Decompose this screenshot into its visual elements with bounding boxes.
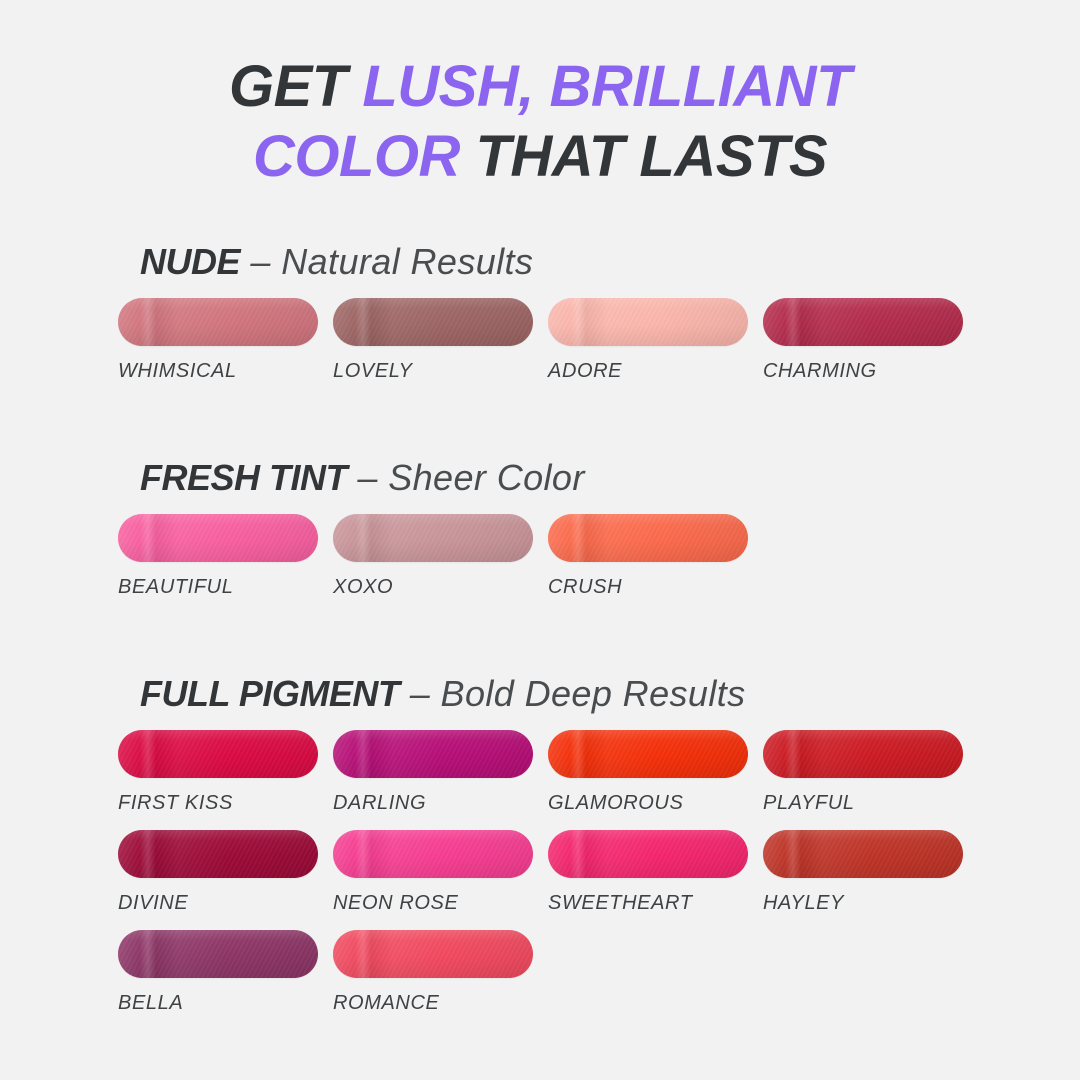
swatch-label: CRUSH bbox=[548, 575, 748, 599]
swatch-item[interactable]: ADORE bbox=[548, 298, 748, 398]
section-header-full-pigment: FULL PIGMENT – Bold Deep Results bbox=[0, 672, 1080, 716]
swatch-chip[interactable] bbox=[118, 930, 318, 978]
swatch-label: NEON ROSE bbox=[333, 891, 533, 915]
swatch-label: DARLING bbox=[333, 791, 533, 815]
section-subtitle: – Bold Deep Results bbox=[399, 673, 745, 714]
swatch-chip[interactable] bbox=[763, 730, 963, 778]
section-subtitle: – Sheer Color bbox=[347, 457, 585, 498]
section-title: NUDE bbox=[140, 241, 240, 282]
swatch-chip[interactable] bbox=[333, 830, 533, 878]
swatch-label: BELLA bbox=[118, 991, 318, 1015]
section-header-fresh-tint: FRESH TINT – Sheer Color bbox=[0, 456, 1080, 500]
swatch-chip[interactable] bbox=[548, 730, 748, 778]
page-title-line-2: COLOR THAT LASTS bbox=[0, 122, 1080, 192]
section-title: FULL PIGMENT bbox=[140, 673, 399, 714]
shade-section-full-pigment: FULL PIGMENT – Bold Deep ResultsFIRST KI… bbox=[0, 672, 1080, 1030]
swatch-row: FIRST KISSDARLINGGLAMOROUSPLAYFUL bbox=[0, 730, 962, 830]
swatch-label: SWEETHEART bbox=[548, 891, 748, 915]
swatch-label: GLAMOROUS bbox=[548, 791, 748, 815]
swatch-item[interactable]: FIRST KISS bbox=[118, 730, 318, 830]
swatch-row: WHIMSICALLOVELYADORECHARMING bbox=[0, 298, 962, 398]
swatch-label: WHIMSICAL bbox=[118, 359, 318, 383]
swatch-item[interactable]: SWEETHEART bbox=[548, 830, 748, 930]
swatch-chip[interactable] bbox=[118, 830, 318, 878]
section-header-nude: NUDE – Natural Results bbox=[0, 240, 1080, 284]
shade-section-fresh-tint: FRESH TINT – Sheer ColorBEAUTIFULXOXOCRU… bbox=[0, 456, 1080, 614]
swatch-chip[interactable] bbox=[763, 830, 963, 878]
swatch-label: HAYLEY bbox=[763, 891, 963, 915]
swatch-item[interactable]: XOXO bbox=[333, 514, 533, 614]
swatch-label: CHARMING bbox=[763, 359, 963, 383]
swatch-chip[interactable] bbox=[548, 298, 748, 346]
swatch-label: ADORE bbox=[548, 359, 748, 383]
swatch-chip[interactable] bbox=[118, 730, 318, 778]
swatch-label: BEAUTIFUL bbox=[118, 575, 318, 599]
swatch-item[interactable]: HAYLEY bbox=[763, 830, 963, 930]
page-title-line1-accent: LUSH, BRILLIANT bbox=[362, 54, 851, 119]
swatch-label: ROMANCE bbox=[333, 991, 533, 1015]
swatch-item[interactable]: WHIMSICAL bbox=[118, 298, 318, 398]
swatch-label: LOVELY bbox=[333, 359, 533, 383]
swatch-label: XOXO bbox=[333, 575, 533, 599]
swatch-item[interactable]: CRUSH bbox=[548, 514, 748, 614]
page-title-line1-lead: GET bbox=[229, 54, 362, 119]
swatch-item[interactable]: ROMANCE bbox=[333, 930, 533, 1030]
swatch-item[interactable]: DARLING bbox=[333, 730, 533, 830]
swatch-chip[interactable] bbox=[333, 298, 533, 346]
swatch-item[interactable]: NEON ROSE bbox=[333, 830, 533, 930]
page-title-line-1: GET LUSH, BRILLIANT bbox=[0, 52, 1080, 122]
swatch-item[interactable]: CHARMING bbox=[763, 298, 963, 398]
swatch-item[interactable]: DIVINE bbox=[118, 830, 318, 930]
page-title: GET LUSH, BRILLIANT COLOR THAT LASTS bbox=[0, 52, 1080, 192]
swatch-item[interactable]: BELLA bbox=[118, 930, 318, 1030]
swatch-item[interactable]: LOVELY bbox=[333, 298, 533, 398]
page-title-line2-accent: COLOR bbox=[253, 124, 460, 189]
swatch-label: PLAYFUL bbox=[763, 791, 963, 815]
section-title: FRESH TINT bbox=[140, 457, 347, 498]
swatch-chip[interactable] bbox=[118, 514, 318, 562]
swatch-label: FIRST KISS bbox=[118, 791, 318, 815]
swatch-item[interactable]: BEAUTIFUL bbox=[118, 514, 318, 614]
page-title-line2-tail: THAT LASTS bbox=[460, 124, 827, 189]
shade-section-nude: NUDE – Natural ResultsWHIMSICALLOVELYADO… bbox=[0, 240, 1080, 398]
swatch-item[interactable]: GLAMOROUS bbox=[548, 730, 748, 830]
swatch-chip[interactable] bbox=[548, 830, 748, 878]
swatch-chip[interactable] bbox=[763, 298, 963, 346]
swatch-chip[interactable] bbox=[333, 514, 533, 562]
swatch-chip[interactable] bbox=[118, 298, 318, 346]
swatch-row: DIVINENEON ROSESWEETHEARTHAYLEY bbox=[0, 830, 962, 930]
shade-sections: NUDE – Natural ResultsWHIMSICALLOVELYADO… bbox=[0, 240, 1080, 1030]
swatch-row: BEAUTIFULXOXOCRUSH bbox=[0, 514, 962, 614]
swatch-chip[interactable] bbox=[548, 514, 748, 562]
swatch-label: DIVINE bbox=[118, 891, 318, 915]
swatch-row: BELLAROMANCE bbox=[0, 930, 962, 1030]
swatch-item[interactable]: PLAYFUL bbox=[763, 730, 963, 830]
swatch-chip[interactable] bbox=[333, 930, 533, 978]
swatch-chip[interactable] bbox=[333, 730, 533, 778]
section-subtitle: – Natural Results bbox=[240, 241, 533, 282]
